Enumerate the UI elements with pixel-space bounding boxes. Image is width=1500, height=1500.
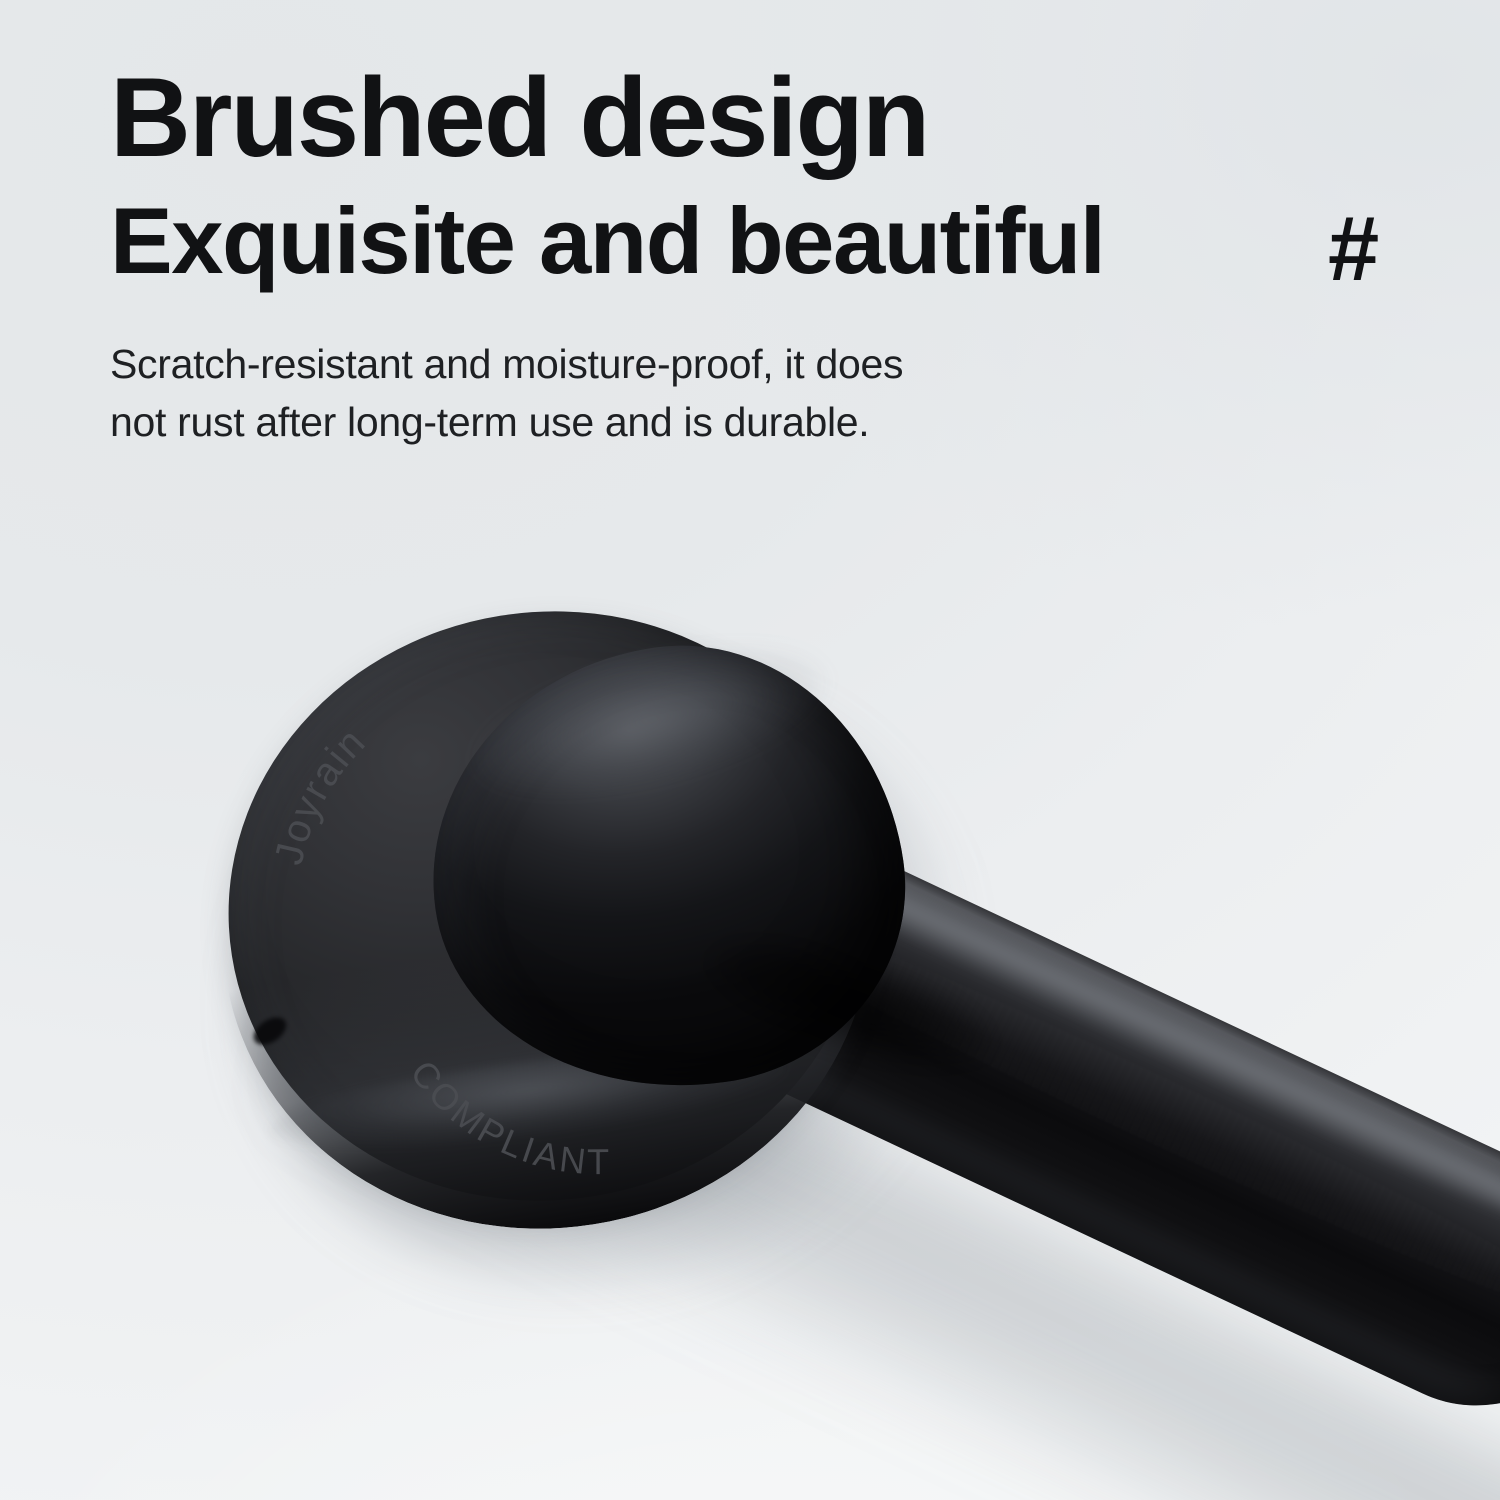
marketing-copy-block: Brushed design Exquisite and beautiful S… <box>110 62 1170 452</box>
engraving-brand-path: Joyrain <box>247 715 391 875</box>
body-copy: Scratch-resistant and moisture-proof, it… <box>110 335 1070 451</box>
body-copy-line-2: not rust after long-term use and is dura… <box>110 399 869 445</box>
hash-mark-glyph: # <box>1328 203 1379 295</box>
engraving-brand-text: Joyrain <box>247 715 391 875</box>
product-feature-image: Joyrain COMPLIANT Brushed design Exquisi… <box>0 0 1500 1500</box>
headline-secondary: Exquisite and beautiful <box>110 188 1170 293</box>
headline-primary: Brushed design <box>110 62 1170 174</box>
body-copy-line-1: Scratch-resistant and moisture-proof, it… <box>110 341 903 387</box>
